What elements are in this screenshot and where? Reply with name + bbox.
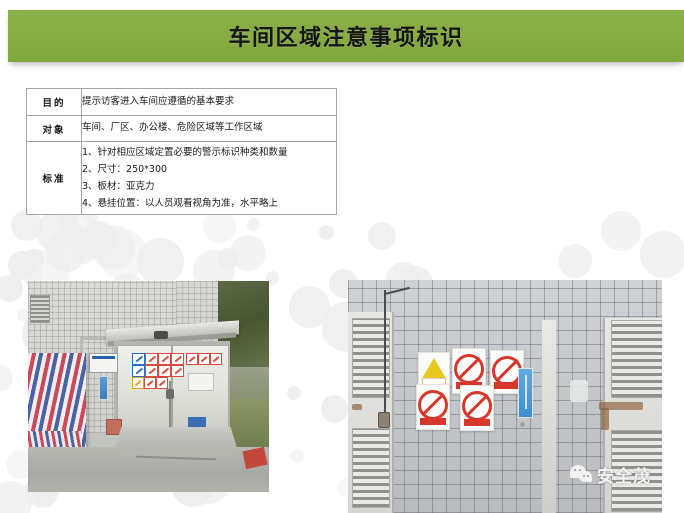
row-label-target: 对象 bbox=[27, 116, 82, 142]
decorative-dot bbox=[601, 211, 641, 251]
row-value-standard: 1、针对相应区域定置必要的警示标识种类和数量 2、尺寸：250*300 3、板材… bbox=[82, 142, 337, 215]
standard-line-4: 4、悬挂位置：以人员观看视角为准，水平略上 bbox=[82, 195, 336, 212]
table-row: 标准 1、针对相应区域定置必要的警示标识种类和数量 2、尺寸：250*300 3… bbox=[27, 142, 337, 215]
photo-sign-screw bbox=[520, 422, 525, 427]
decorative-dot bbox=[319, 225, 334, 240]
decorative-dot bbox=[0, 275, 23, 302]
page-title: 车间区域注意事项标识 bbox=[8, 10, 684, 62]
decorative-dot bbox=[8, 251, 36, 279]
photo-louver-vent-bottom-left bbox=[352, 428, 390, 508]
photo-hanging-wire bbox=[384, 290, 386, 418]
door-safety-sign bbox=[132, 353, 145, 365]
decorative-dot bbox=[558, 244, 592, 278]
slide-canvas: 车间区域注意事项标识 目的 提示访客进入车间应遵循的基本要求 对象 车间、厂区、… bbox=[0, 0, 684, 513]
decorative-dot bbox=[36, 212, 77, 253]
door-safety-sign bbox=[145, 365, 158, 377]
decorative-dot bbox=[247, 218, 260, 231]
photo-blue-mandatory-sign bbox=[99, 376, 108, 400]
standard-line-3: 3、板材：亚克力 bbox=[82, 178, 336, 195]
wechat-logo-icon bbox=[570, 465, 592, 484]
decorative-dot bbox=[322, 323, 345, 346]
prohibition-sign-3 bbox=[416, 384, 450, 430]
watermark-text: 安全茂 bbox=[597, 462, 651, 487]
door-safety-sign bbox=[158, 365, 171, 377]
photo-camera bbox=[154, 331, 168, 339]
door-safety-sign bbox=[171, 365, 184, 377]
door-safety-sign bbox=[144, 377, 156, 389]
decorative-dot bbox=[46, 231, 87, 272]
decorative-dot bbox=[218, 248, 239, 269]
door-safety-sign bbox=[145, 353, 158, 365]
photo-door-handle bbox=[166, 389, 174, 399]
photo-rust-spot bbox=[352, 404, 362, 410]
decorative-dot bbox=[289, 286, 331, 328]
decorative-dot bbox=[368, 222, 396, 250]
decorative-dot bbox=[98, 230, 147, 279]
prohibition-sign-4 bbox=[460, 385, 494, 431]
table-row: 目的 提示访客进入车间应遵循的基本要求 bbox=[27, 89, 337, 116]
door-safety-sign bbox=[198, 353, 210, 365]
photo-wall-patch bbox=[570, 380, 588, 402]
decorative-dot bbox=[230, 235, 266, 271]
decorative-dot bbox=[137, 238, 184, 285]
decorative-dot bbox=[17, 309, 29, 321]
door-safety-sign bbox=[158, 353, 171, 365]
standard-line-2: 2、尺寸：250*300 bbox=[82, 161, 336, 178]
workshop-entrance-photo bbox=[28, 281, 269, 492]
table-row: 对象 车间、厂区、办公楼、危险区域等工作区域 bbox=[27, 116, 337, 142]
watermark: 安全茂 bbox=[570, 462, 651, 487]
door-safety-sign bbox=[132, 365, 145, 377]
photo-wall-post bbox=[542, 320, 556, 513]
row-label-purpose: 目的 bbox=[27, 89, 82, 116]
photo-door-sign-group-3 bbox=[186, 353, 220, 367]
door-safety-sign bbox=[186, 353, 198, 365]
decorative-dot bbox=[0, 280, 11, 294]
decorative-dot bbox=[24, 249, 44, 269]
photo-louver-vent-top-right bbox=[611, 320, 662, 398]
decorative-dot bbox=[0, 365, 13, 391]
decorative-dot bbox=[69, 237, 96, 264]
door-safety-sign bbox=[132, 377, 144, 389]
blue-mandatory-sign bbox=[518, 368, 533, 418]
photo-blue-name-plate bbox=[89, 353, 118, 373]
door-safety-sign bbox=[156, 377, 168, 389]
decorative-dot bbox=[91, 225, 135, 269]
photo-rust-drip bbox=[601, 408, 609, 430]
spec-table: 目的 提示访客进入车间应遵循的基本要求 对象 车间、厂区、办公楼、危险区域等工作… bbox=[26, 88, 337, 215]
photo-wall-vent bbox=[30, 295, 50, 323]
standard-line-1: 1、针对相应区域定置必要的警示标识种类和数量 bbox=[82, 144, 336, 161]
title-banner: 车间区域注意事项标识 bbox=[8, 10, 684, 62]
decorative-dot bbox=[321, 395, 348, 422]
decorative-dot bbox=[640, 231, 684, 278]
row-value-purpose: 提示访客进入车间应遵循的基本要求 bbox=[82, 89, 337, 116]
photo-padlock bbox=[378, 412, 390, 428]
decorative-dot bbox=[80, 221, 116, 257]
decorative-dot bbox=[203, 210, 236, 243]
photo-door-sign-group-1 bbox=[132, 353, 184, 377]
photo-red-drum bbox=[106, 419, 122, 435]
decorative-dot bbox=[291, 449, 304, 462]
decorative-dot bbox=[61, 220, 82, 241]
row-label-standard: 标准 bbox=[27, 142, 82, 215]
photo-door-sign-group-2 bbox=[132, 377, 166, 391]
row-value-target: 车间、厂区、办公楼、危险区域等工作区域 bbox=[82, 116, 337, 142]
photo-concrete-ramp bbox=[114, 427, 238, 451]
photo-notice-board bbox=[188, 373, 214, 391]
door-safety-sign bbox=[210, 353, 222, 365]
decorative-dot bbox=[287, 386, 301, 400]
decorative-dot bbox=[0, 481, 32, 513]
photo-ground bbox=[28, 447, 269, 492]
door-safety-sign bbox=[171, 353, 184, 365]
